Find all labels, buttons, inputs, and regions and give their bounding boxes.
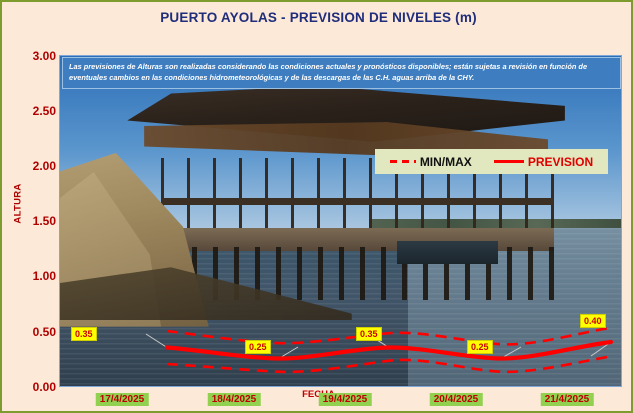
x-tick-18-4-2025: 18/4/2025 — [208, 393, 261, 406]
series-svg — [60, 56, 621, 386]
series-prevision-line — [167, 342, 611, 359]
series-min-line — [167, 356, 611, 372]
data-label-3: 0.25 — [467, 340, 493, 354]
x-tick-17-4-2025: 17/4/2025 — [96, 393, 149, 406]
data-label-2: 0.35 — [356, 327, 382, 341]
plot-area: Las previsiones de Alturas son realizada… — [59, 55, 622, 387]
y-tick-2-50: 2.50 — [14, 104, 56, 118]
x-tick-19-4-2025: 19/4/2025 — [319, 393, 372, 406]
chart-frame: PUERTO AYOLAS - PREVISION DE NIVELES (m)… — [0, 0, 633, 413]
y-tick-2-00: 2.00 — [14, 159, 56, 173]
page-title: PUERTO AYOLAS - PREVISION DE NIVELES (m) — [2, 10, 633, 25]
data-label-4: 0.40 — [580, 314, 606, 328]
series-max-line — [167, 328, 611, 345]
y-tick-1-00: 1.00 — [14, 269, 56, 283]
x-tick-20-4-2025: 20/4/2025 — [430, 393, 483, 406]
y-tick-1-50: 1.50 — [14, 214, 56, 228]
y-tick-0-50: 0.50 — [14, 325, 56, 339]
data-label-0: 0.35 — [71, 327, 97, 341]
x-tick-21-4-2025: 21/4/2025 — [541, 393, 594, 406]
y-tick-3-00: 3.00 — [14, 49, 56, 63]
data-label-1: 0.25 — [245, 340, 271, 354]
